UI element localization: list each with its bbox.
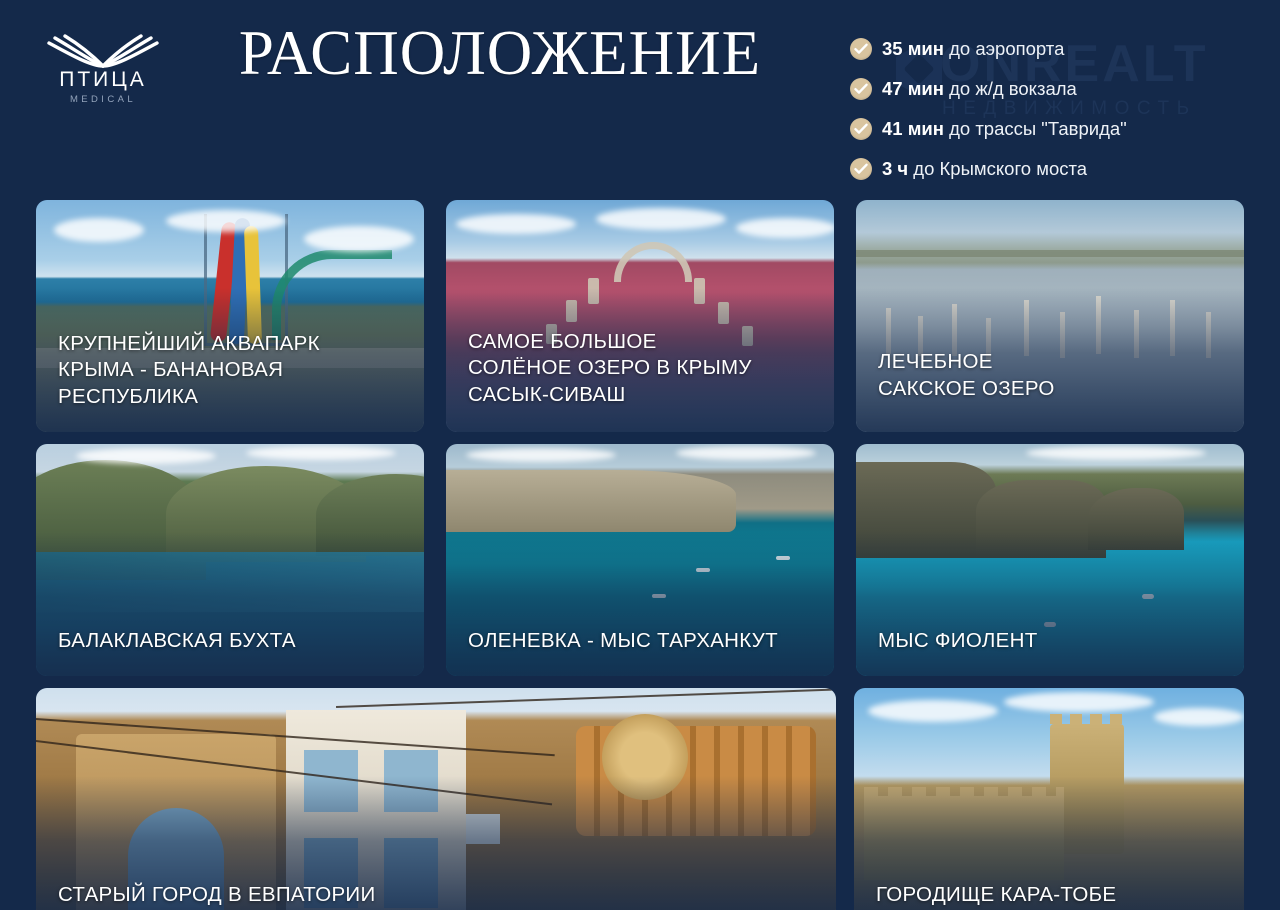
- card-caption: МЫС ФИОЛЕНТ: [878, 628, 1228, 655]
- card-caption: БАЛАКЛАВСКАЯ БУХТА: [58, 628, 408, 655]
- location-card[interactable]: БАЛАКЛАВСКАЯ БУХТА: [36, 444, 424, 676]
- page-title: РАСПОЛОЖЕНИЕ: [190, 18, 810, 88]
- bird-wings-logo-icon: [33, 26, 173, 72]
- location-card[interactable]: САМОЕ БОЛЬШОЕ СОЛЁНОЕ ОЗЕРО В КРЫМУ САСЫ…: [446, 200, 834, 432]
- list-item: 35 мин до аэропорта: [850, 29, 1270, 69]
- list-item-text: 35 мин до аэропорта: [882, 38, 1064, 60]
- card-caption: ЛЕЧЕБНОЕ САКСКОЕ ОЗЕРО: [878, 349, 1228, 402]
- list-item-text: 41 мин до трассы "Таврида": [882, 118, 1127, 140]
- list-item-value: 35 мин: [882, 38, 944, 59]
- card-caption: КРУПНЕЙШИЙ АКВАПАРК КРЫМА - БАНАНОВАЯ РЕ…: [58, 331, 408, 411]
- brand-logo[interactable]: ПТИЦА MEDICAL: [33, 26, 173, 108]
- page-header: ПТИЦА MEDICAL РАСПОЛОЖЕНИЕ 35 мин до аэр…: [0, 0, 1280, 195]
- list-item-label: до ж/д вокзала: [944, 78, 1077, 99]
- location-card[interactable]: КРУПНЕЙШИЙ АКВАПАРК КРЫМА - БАНАНОВАЯ РЕ…: [36, 200, 424, 432]
- card-caption: СТАРЫЙ ГОРОД В ЕВПАТОРИИ: [58, 882, 820, 909]
- check-circle-icon: [850, 118, 872, 140]
- list-item-label: до аэропорта: [944, 38, 1064, 59]
- location-card[interactable]: ОЛЕНЕВКА - МЫС ТАРХАНКУТ: [446, 444, 834, 676]
- list-item-label: до Крымского моста: [908, 158, 1087, 179]
- caption-scrim: [446, 532, 834, 676]
- list-item-text: 3 ч до Крымского моста: [882, 158, 1087, 180]
- location-card[interactable]: СТАРЫЙ ГОРОД В ЕВПАТОРИИ: [36, 688, 836, 910]
- logo-wordmark: ПТИЦА: [33, 68, 173, 92]
- card-caption: ГОРОДИЩЕ КАРА-ТОБЕ: [876, 882, 1228, 909]
- list-item-value: 41 мин: [882, 118, 944, 139]
- list-item-text: 47 мин до ж/д вокзала: [882, 78, 1077, 100]
- list-item: 47 мин до ж/д вокзала: [850, 69, 1270, 109]
- card-caption: ОЛЕНЕВКА - МЫС ТАРХАНКУТ: [468, 628, 818, 655]
- caption-scrim: [36, 532, 424, 676]
- list-item: 3 ч до Крымского моста: [850, 149, 1270, 189]
- list-item-label: до трассы "Таврида": [944, 118, 1127, 139]
- logo-subtitle: MEDICAL: [33, 94, 173, 105]
- list-item-value: 3 ч: [882, 158, 908, 179]
- check-circle-icon: [850, 158, 872, 180]
- location-card[interactable]: ГОРОДИЩЕ КАРА-ТОБЕ: [854, 688, 1244, 910]
- list-item-value: 47 мин: [882, 78, 944, 99]
- check-circle-icon: [850, 78, 872, 100]
- card-caption: САМОЕ БОЛЬШОЕ СОЛЁНОЕ ОЗЕРО В КРЫМУ САСЫ…: [468, 329, 818, 409]
- location-card[interactable]: ЛЕЧЕБНОЕ САКСКОЕ ОЗЕРО: [856, 200, 1244, 432]
- list-item: 41 мин до трассы "Таврида": [850, 109, 1270, 149]
- caption-scrim: [856, 532, 1244, 676]
- location-card[interactable]: МЫС ФИОЛЕНТ: [856, 444, 1244, 676]
- check-circle-icon: [850, 38, 872, 60]
- travel-time-list: 35 мин до аэропорта 47 мин до ж/д вокзал…: [850, 29, 1270, 189]
